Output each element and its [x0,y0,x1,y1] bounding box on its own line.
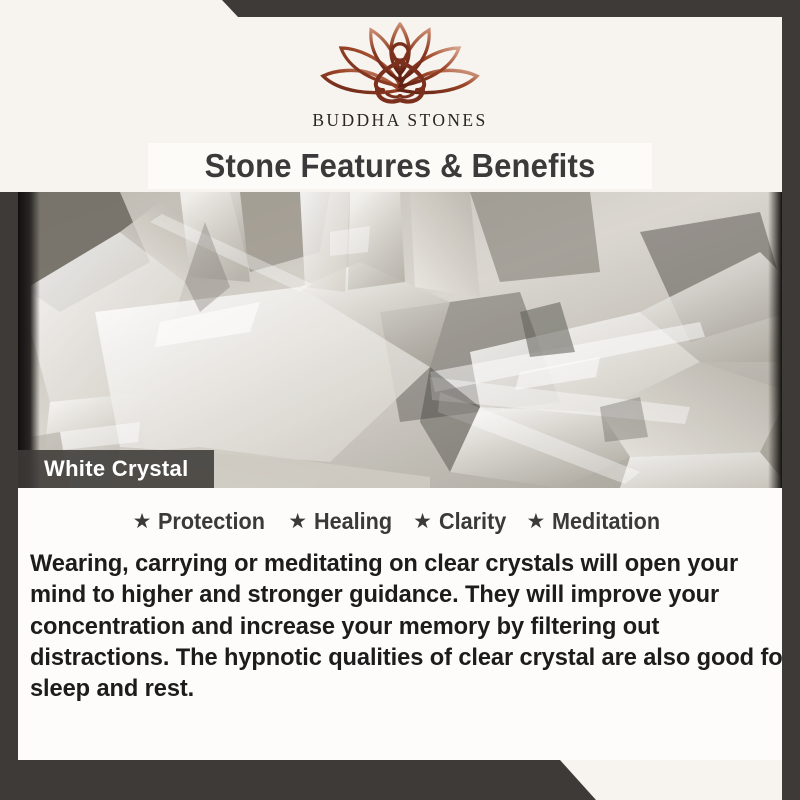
feature-item-meditation: ★ Meditation [527,508,668,535]
feature-label: Healing [314,508,392,535]
poster-root: BUDDHA STONES Stone Features & Benefits [0,0,800,800]
photo-left-shadow [18,192,40,488]
feature-label: Meditation [552,508,660,535]
page-title: Stone Features & Benefits [24,143,776,189]
feature-label: Protection [158,508,265,535]
star-icon: ★ [288,511,307,532]
frame-left-cream-top [0,0,18,192]
crystal-illustration [0,192,800,488]
feature-item-clarity: ★ Clarity [413,508,510,535]
photo-right-shadow [768,192,782,488]
description-text: Wearing, carrying or meditating on clear… [30,548,797,705]
lotus-meditation-icon [305,16,495,108]
stone-name-label: White Crystal [44,456,188,482]
star-icon: ★ [133,511,152,532]
star-icon: ★ [413,511,432,532]
feature-label: Clarity [439,508,506,535]
feature-item-protection: ★ Protection [133,508,273,535]
features-list: ★ Protection ★ Healing ★ Clarity ★ Medit… [18,508,782,535]
frame-right-band [782,0,800,800]
feature-item-healing: ★ Healing [288,508,397,535]
brand-name: BUDDHA STONES [0,110,800,131]
content-section: ★ Protection ★ Healing ★ Clarity ★ Medit… [18,488,782,760]
stone-name-badge: White Crystal [18,450,214,488]
brand-logo: BUDDHA STONES [0,16,800,131]
white-crystal-cluster-photo [0,192,800,488]
star-icon: ★ [527,511,546,532]
header-section: BUDDHA STONES Stone Features & Benefits [0,0,800,192]
